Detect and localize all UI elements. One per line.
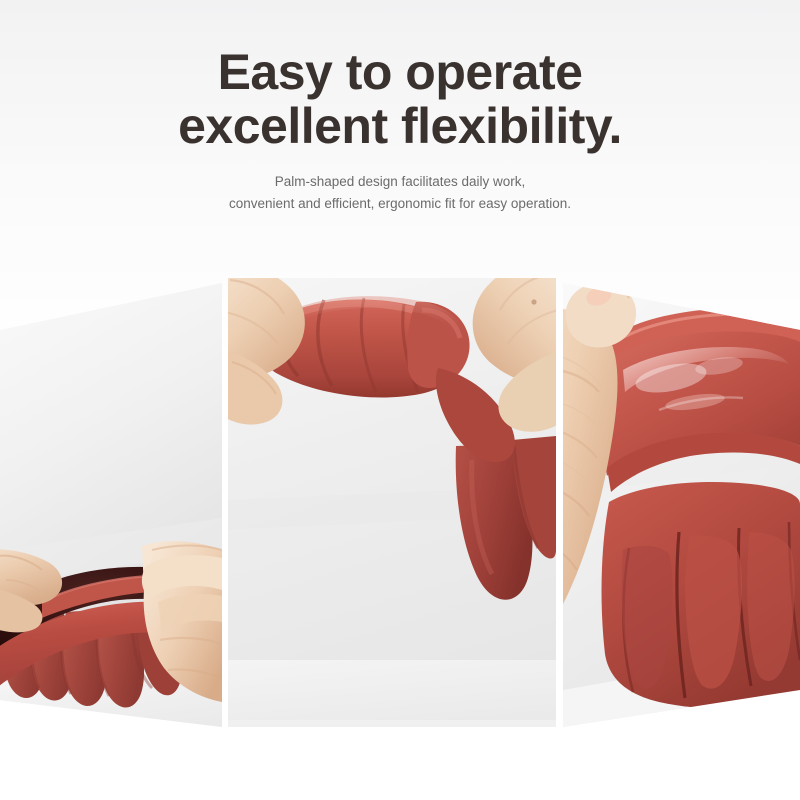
subtitle-line-1: Palm-shaped design facilitates daily wor… [0,171,800,193]
glove-body-folds [602,482,800,709]
headline-line-2: excellent flexibility. [0,100,800,154]
gallery-panel-closeup-grip[interactable] [563,250,800,750]
banner-header: Easy to operate excellent flexibility. P… [0,0,800,240]
page-subtitle: Palm-shaped design facilitates daily wor… [0,153,800,215]
photo-twist-glove [228,250,556,750]
photo-closeup-grip [563,250,800,750]
page-title: Easy to operate excellent flexibility. [0,0,800,153]
product-feature-banner: Easy to operate excellent flexibility. P… [0,0,800,800]
gallery-panel-stretch-cuff[interactable] [0,250,222,750]
subtitle-line-2: convenient and efficient, ergonomic fit … [0,193,800,215]
gallery-panel-twist-glove[interactable] [228,250,556,750]
headline-line-1: Easy to operate [0,46,800,100]
photo-stretch-cuff [0,250,222,750]
